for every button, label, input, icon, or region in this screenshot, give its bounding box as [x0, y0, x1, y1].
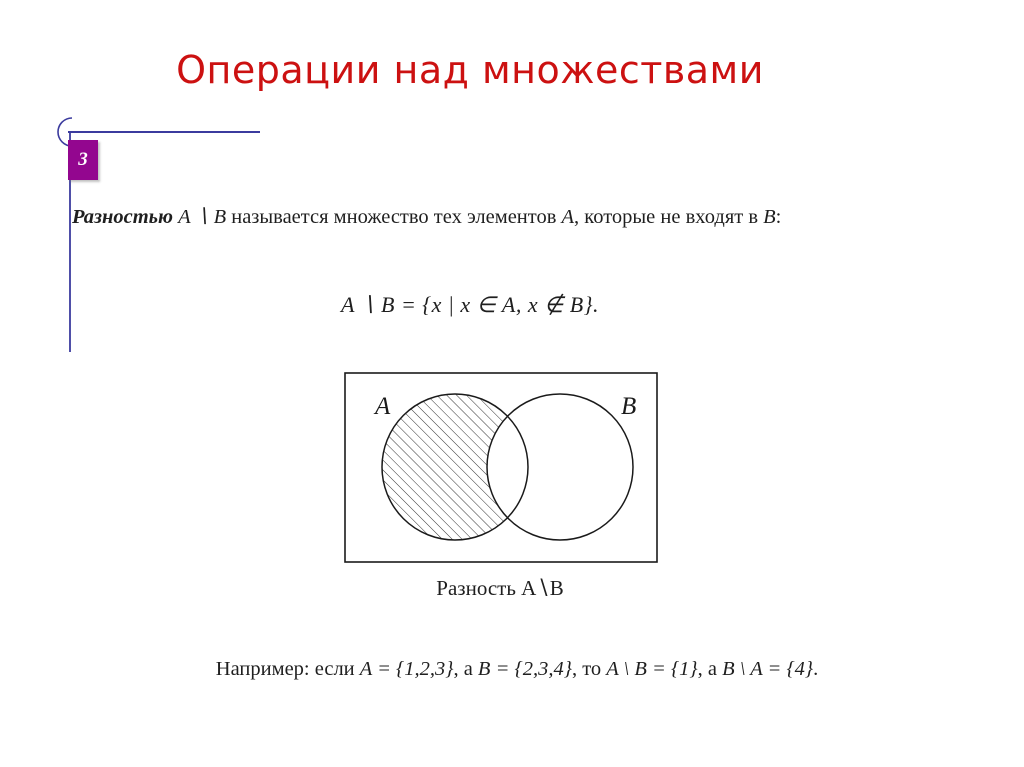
example-lead: Например: если — [216, 658, 360, 680]
set-difference-formula: A ∖ B = {x | x ∈ A, x ∉ B}. — [0, 292, 940, 318]
definition-expression: A ∖ B — [173, 206, 231, 228]
definition-paragraph: Разностью A ∖ B называется множество тех… — [72, 200, 950, 234]
example-set-b: B = {2,3,4} — [478, 658, 572, 680]
venn-caption: Разность A∖B — [330, 576, 670, 601]
example-conj-2: , то — [572, 658, 606, 680]
example-conj-1: , а — [453, 658, 477, 680]
page-title: Операции над множествами — [0, 48, 940, 92]
venn-label-b: B — [621, 393, 636, 420]
example-paragraph: Например: если A = {1,2,3}, а B = {2,3,4… — [72, 658, 962, 681]
slide-number-label: 3 — [78, 149, 88, 171]
definition-colon: : — [776, 206, 782, 228]
example-conj-3: , а — [698, 658, 722, 680]
venn-shaded-difference — [344, 372, 658, 563]
venn-diagram: A B — [344, 372, 658, 563]
venn-label-a: A — [373, 393, 391, 420]
definition-var-b: B — [763, 206, 776, 228]
example-difference-ba: B \ A = {4} — [722, 658, 813, 680]
example-set-a: A = {1,2,3} — [360, 658, 454, 680]
definition-body-first: называется множество тех элементов — [231, 206, 561, 228]
definition-var-a: A — [562, 206, 575, 228]
definition-body-second: , которые не входят в — [574, 206, 763, 228]
example-end: . — [813, 658, 818, 680]
definition-term: Разностью — [72, 206, 173, 228]
example-difference-ab: A \ B = {1} — [606, 658, 697, 680]
slide-number-badge: 3 — [68, 140, 98, 180]
